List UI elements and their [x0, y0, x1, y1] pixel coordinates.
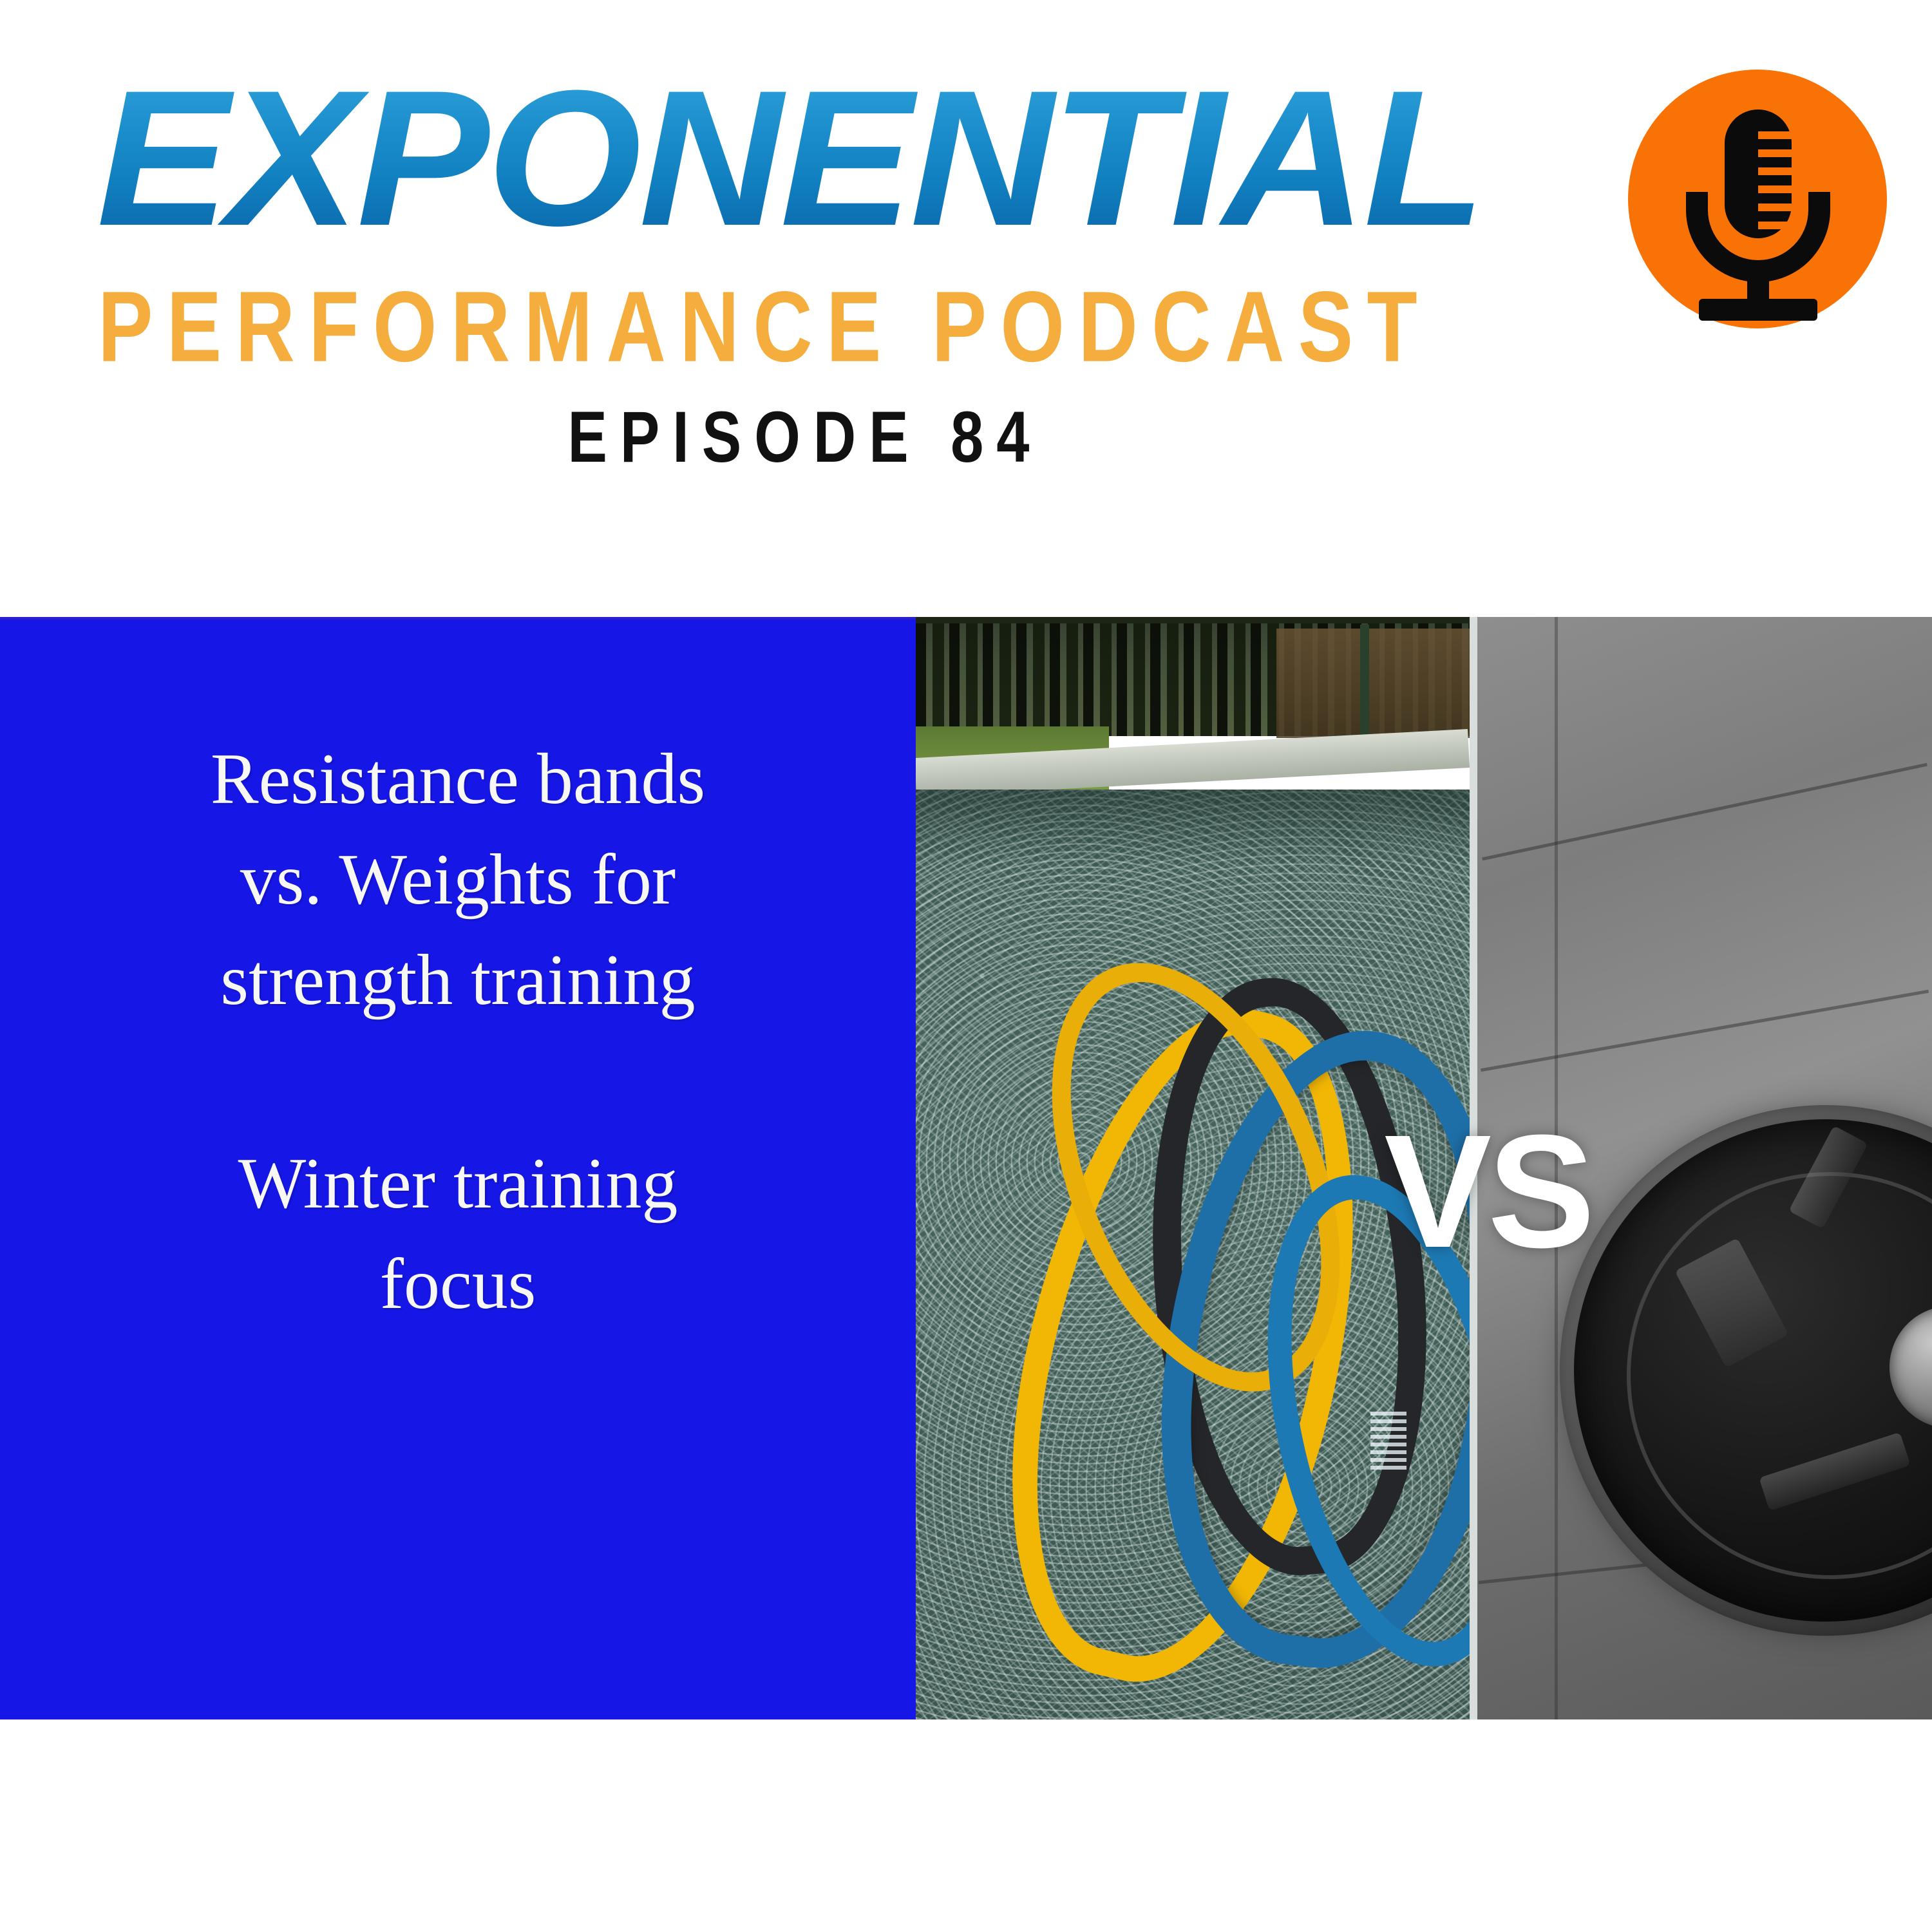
topic-line: Winter training — [26, 1133, 890, 1234]
brand-subtitle-performance-podcast: PERFORMANCE PODCAST — [98, 274, 1504, 380]
playground-structure — [1276, 629, 1470, 738]
content-band: Resistance bands vs. Weights for strengt… — [0, 617, 1932, 1719]
podcast-cover-art: EXPONENTIAL PERFORMANCE PODCAST EPISODE … — [0, 0, 1932, 1932]
header-band: EXPONENTIAL PERFORMANCE PODCAST EPISODE … — [0, 0, 1932, 617]
turf-shadow — [916, 790, 1470, 867]
topic-line: Resistance bands — [26, 729, 890, 829]
topic-line: vs. Weights for — [26, 829, 890, 930]
topic-line: strength training — [26, 930, 890, 1030]
episode-topic-block-2: Winter training focus — [26, 1133, 890, 1334]
footer-whitespace — [0, 1719, 1932, 1932]
brand-title-exponential: EXPONENTIAL — [97, 68, 1656, 248]
green-pole — [1360, 625, 1369, 741]
band-brand-mark — [1370, 1410, 1406, 1470]
versus-label: VS — [1352, 1095, 1623, 1288]
topic-line: focus — [26, 1234, 890, 1334]
episode-title-panel: Resistance bands vs. Weights for strengt… — [0, 617, 916, 1719]
microphone-badge — [1628, 70, 1887, 328]
episode-number-label: EPISODE 84 — [0, 394, 1610, 480]
microphone-icon — [1628, 70, 1887, 328]
episode-topic-block-1: Resistance bands vs. Weights for strengt… — [26, 729, 890, 1334]
